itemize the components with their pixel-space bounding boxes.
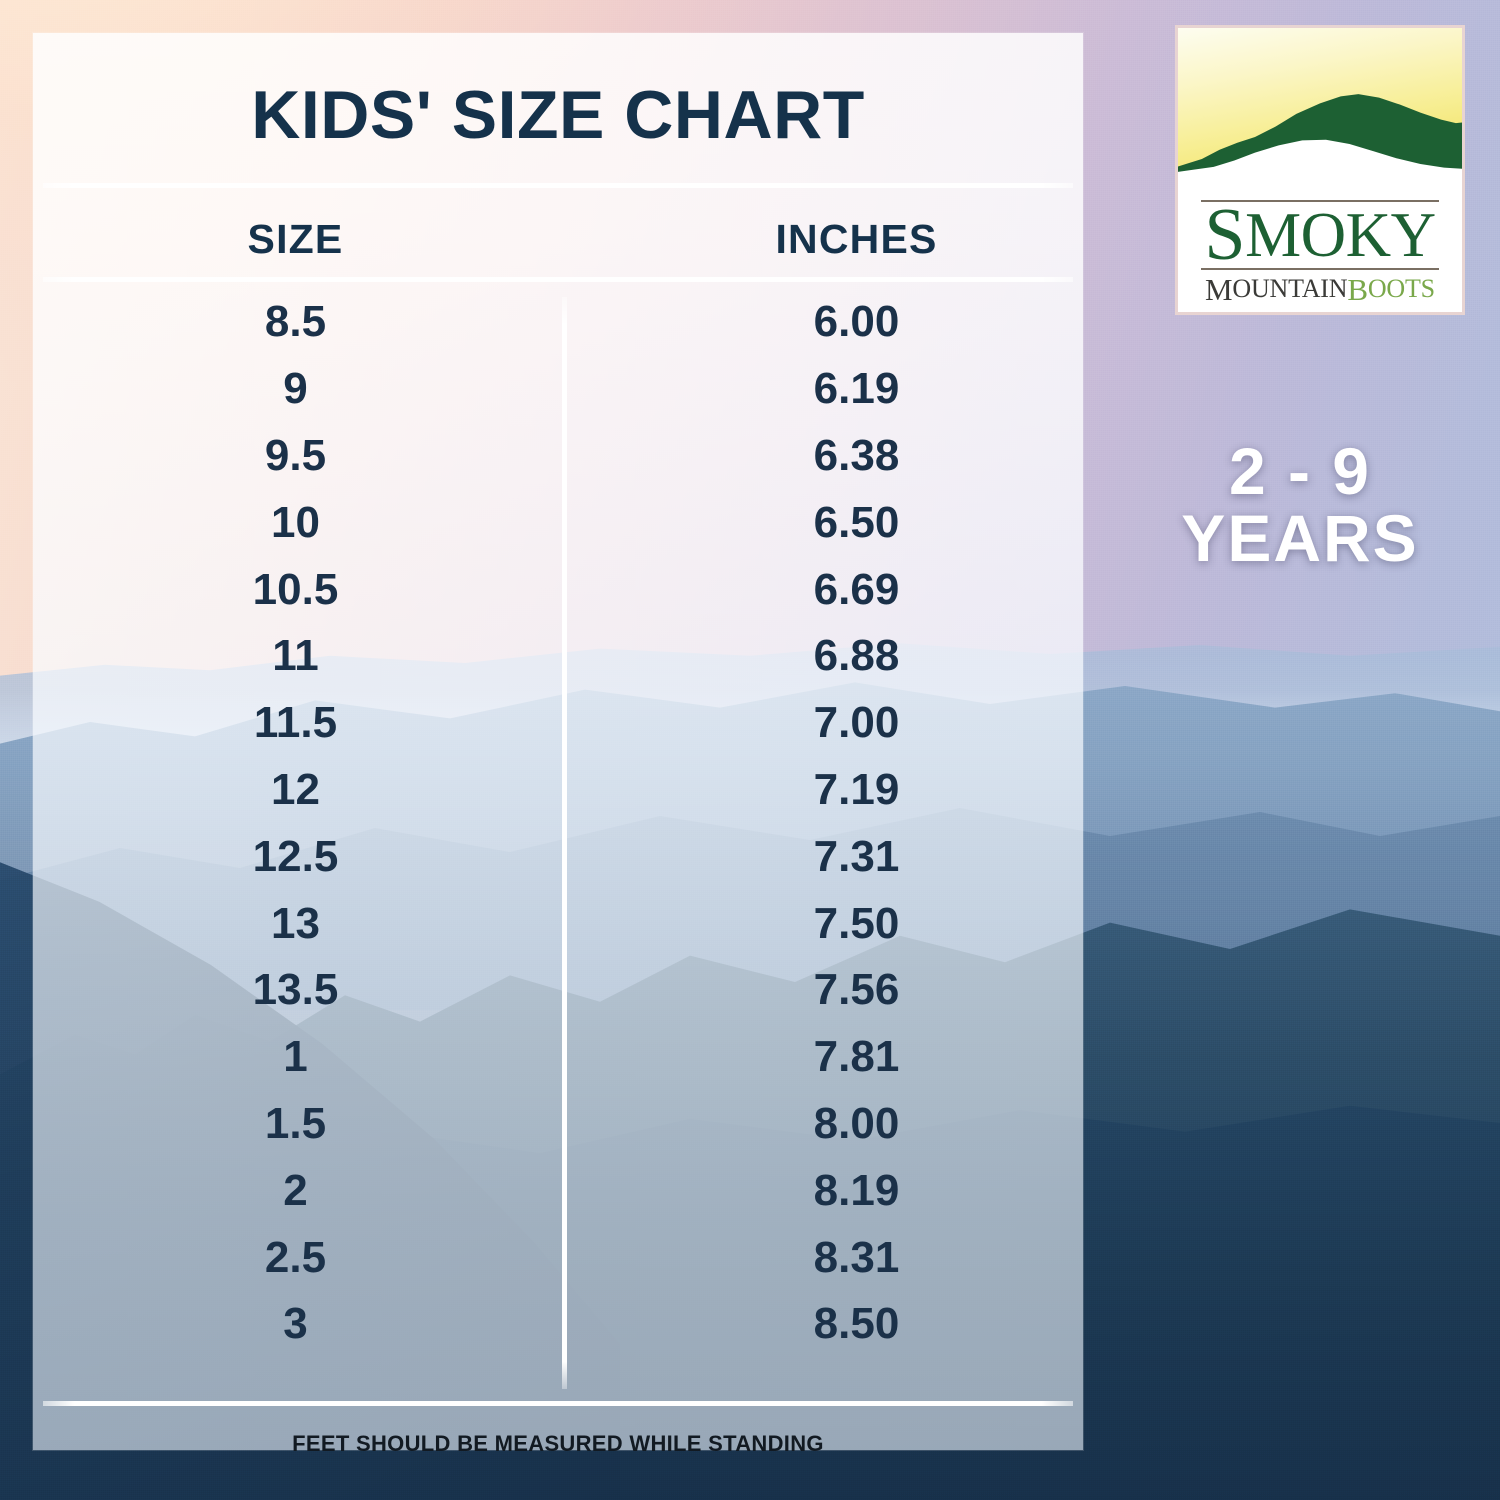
header-divider-rule: [43, 277, 1073, 282]
size-chart-poster: KIDS' SIZE CHART SIZE INCHES 8.56.0096.1…: [0, 0, 1500, 1500]
size-chart-panel: KIDS' SIZE CHART SIZE INCHES 8.56.0096.1…: [33, 33, 1083, 1450]
cell-inches: 8.00: [568, 1102, 1119, 1146]
cell-inches: 8.50: [568, 1302, 1119, 1346]
table-row: 9.56.38: [33, 423, 1083, 490]
cell-inches: 6.50: [568, 501, 1119, 545]
measurement-note: FEET SHOULD BE MEASURED WHILE STANDING: [33, 1431, 1083, 1457]
brand-logo: SMOKY MOUNTAINBOOTS: [1175, 25, 1465, 315]
cell-inches: 6.38: [568, 434, 1119, 478]
size-table-body: 8.56.0096.199.56.38106.5010.56.69116.881…: [33, 289, 1083, 1358]
cell-size: 3: [33, 1302, 568, 1346]
table-row: 8.56.00: [33, 289, 1083, 356]
column-header-size: SIZE: [33, 211, 568, 267]
cell-inches: 7.31: [568, 835, 1119, 879]
cell-inches: 7.56: [568, 968, 1119, 1012]
cell-size: 13.5: [33, 968, 568, 1012]
title-divider-rule: [43, 183, 1073, 188]
footer-divider-rule: [43, 1401, 1073, 1406]
logo-mountain-scene-icon: [1178, 28, 1462, 198]
table-row: 10.56.69: [33, 556, 1083, 623]
cell-inches: 8.19: [568, 1169, 1119, 1213]
cell-inches: 6.00: [568, 300, 1119, 344]
table-row: 28.19: [33, 1157, 1083, 1224]
cell-inches: 8.31: [568, 1236, 1119, 1280]
table-row: 1.58.00: [33, 1091, 1083, 1158]
cell-inches: 6.88: [568, 634, 1119, 678]
cell-size: 13: [33, 902, 568, 946]
table-row: 11.57.00: [33, 690, 1083, 757]
column-header-inches: INCHES: [568, 211, 1119, 267]
cell-inches: 7.19: [568, 768, 1119, 812]
table-row: 2.58.31: [33, 1224, 1083, 1291]
cell-size: 1: [33, 1035, 568, 1079]
logo-wordmark-smoky: SMOKY: [1178, 201, 1462, 269]
cell-size: 9.5: [33, 434, 568, 478]
cell-inches: 6.19: [568, 367, 1119, 411]
cell-inches: 7.50: [568, 902, 1119, 946]
table-row: 12.57.31: [33, 823, 1083, 890]
table-row: 127.19: [33, 757, 1083, 824]
cell-size: 11: [33, 634, 568, 678]
cell-size: 9: [33, 367, 568, 411]
table-row: 116.88: [33, 623, 1083, 690]
age-range-numbers: 2 - 9: [1104, 438, 1496, 505]
cell-inches: 7.81: [568, 1035, 1119, 1079]
logo-mountain-rest: OUNTAIN: [1232, 276, 1347, 302]
cell-size: 2.5: [33, 1236, 568, 1280]
cell-size: 8.5: [33, 300, 568, 344]
cell-size: 2: [33, 1169, 568, 1213]
cell-inches: 6.69: [568, 568, 1119, 612]
table-row: 137.50: [33, 890, 1083, 957]
cell-size: 11.5: [33, 701, 568, 745]
table-row: 13.57.56: [33, 957, 1083, 1024]
logo-smoky-rest: MOKY: [1245, 204, 1436, 267]
cell-size: 10: [33, 501, 568, 545]
logo-boots-rest: OOTS: [1368, 276, 1435, 302]
logo-boots-cap: B: [1347, 274, 1367, 305]
cell-size: 10.5: [33, 568, 568, 612]
age-range-unit: YEARS: [1104, 505, 1496, 572]
logo-wordmark-mountain-boots: MOUNTAINBOOTS: [1178, 269, 1462, 309]
cell-inches: 7.00: [568, 701, 1119, 745]
cell-size: 1.5: [33, 1102, 568, 1146]
page-title: KIDS' SIZE CHART: [33, 81, 1083, 149]
age-range-callout: 2 - 9 YEARS: [1104, 438, 1496, 573]
table-row: 106.50: [33, 489, 1083, 556]
table-header-row: SIZE INCHES: [33, 211, 1083, 267]
table-row: 96.19: [33, 356, 1083, 423]
logo-mountain-cap: M: [1205, 274, 1232, 305]
table-row: 38.50: [33, 1291, 1083, 1358]
cell-size: 12: [33, 768, 568, 812]
cell-size: 12.5: [33, 835, 568, 879]
logo-smoky-cap: S: [1204, 198, 1245, 272]
table-row: 17.81: [33, 1024, 1083, 1091]
